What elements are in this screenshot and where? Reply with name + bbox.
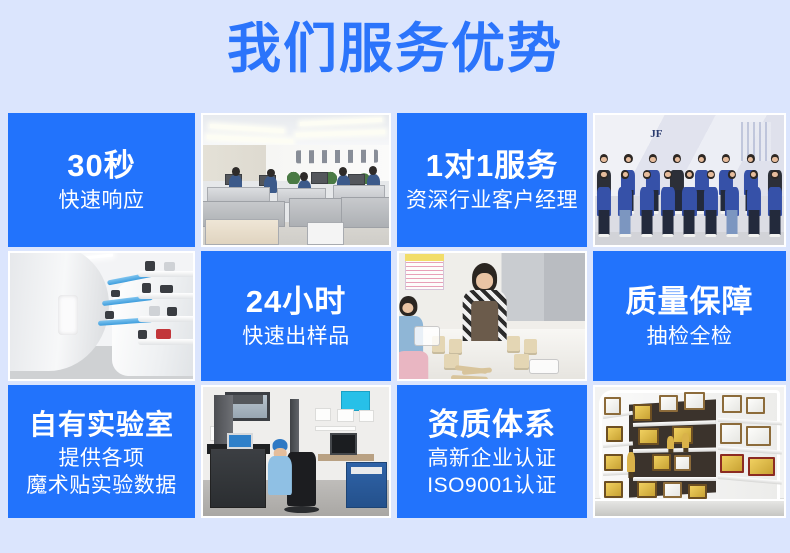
feature-qualification-system-sub2: ISO9001认证 xyxy=(427,472,556,499)
cert-plaque xyxy=(663,482,682,497)
office-monitor xyxy=(348,174,365,186)
lab-document xyxy=(359,410,374,422)
showroom-product xyxy=(160,285,173,294)
feature-response-time-head: 30秒 xyxy=(67,146,135,186)
workshop-bag xyxy=(414,326,440,346)
cert-plaque xyxy=(746,397,765,414)
cert-base xyxy=(595,499,784,516)
cert-plaque xyxy=(604,481,623,498)
workshop-strap xyxy=(451,375,488,379)
showroom-display-pod xyxy=(112,276,193,377)
showroom-shelf xyxy=(138,293,193,299)
cert-trophy-icon xyxy=(667,436,675,449)
cert-plaque xyxy=(684,392,705,410)
office-desk-front xyxy=(307,222,344,245)
workshop-bag xyxy=(529,359,559,374)
team-member xyxy=(747,170,761,238)
team-front-row xyxy=(597,170,782,238)
showroom-product xyxy=(145,261,154,271)
feature-one-on-one-service[interactable]: 1对1服务 资深行业客户经理 xyxy=(397,113,587,247)
showroom-product xyxy=(138,330,147,339)
feature-sample-speed-sub: 快速出样品 xyxy=(242,322,350,351)
cert-plaque xyxy=(688,484,707,499)
cert-plaque xyxy=(604,454,623,471)
workshop-material-roll xyxy=(449,339,462,355)
lab-document xyxy=(315,408,332,421)
feature-response-time-sub: 快速响应 xyxy=(59,186,145,215)
photo-team: JF xyxy=(593,113,786,247)
workshop-notice-header xyxy=(405,254,444,260)
feature-one-on-one-service-sub: 资深行业客户经理 xyxy=(406,186,578,215)
cert-plaque xyxy=(720,423,743,444)
feature-quality-assurance[interactable]: 质量保障 抽检全检 xyxy=(593,251,786,381)
cert-plaque xyxy=(638,428,659,445)
team-member xyxy=(661,170,675,238)
office-cubicle-panel xyxy=(207,187,270,203)
cert-plaque xyxy=(604,397,621,415)
advantages-grid: 30秒 快速响应 xyxy=(8,113,782,518)
team-member xyxy=(704,170,718,238)
feature-qualification-system[interactable]: 资质体系 高新企业认证 ISO9001认证 xyxy=(397,385,587,518)
cert-plaque xyxy=(748,457,774,476)
workshop-material-roll xyxy=(524,339,537,355)
page-title: 我们服务优势 xyxy=(0,14,790,84)
workshop-material-roll xyxy=(514,354,529,370)
photo-office-image xyxy=(203,115,389,245)
photo-laboratory xyxy=(201,385,391,518)
showroom-shelf xyxy=(138,339,193,345)
lab-document xyxy=(315,426,356,431)
feature-sample-speed[interactable]: 24小时 快速出样品 xyxy=(201,251,391,381)
lab-document xyxy=(337,409,354,422)
office-monitor xyxy=(311,172,328,184)
feature-response-time[interactable]: 30秒 快速响应 xyxy=(8,113,195,247)
feature-qualification-system-head: 资质体系 xyxy=(428,405,556,445)
lab-monitor xyxy=(330,433,358,455)
feature-own-laboratory-sub: 提供各项 xyxy=(59,445,145,472)
photo-workshop-image xyxy=(399,253,585,379)
lab-cabinet xyxy=(346,462,387,508)
cert-trophy-icon xyxy=(627,452,635,473)
showroom-product xyxy=(111,290,120,298)
feature-quality-assurance-head: 质量保障 xyxy=(626,282,754,322)
cert-plaque xyxy=(722,395,743,413)
cert-plaque xyxy=(637,481,658,498)
cert-plaque xyxy=(746,426,771,447)
cert-plaque xyxy=(674,455,691,470)
showroom-shelf xyxy=(138,271,193,277)
showroom-shelf xyxy=(138,316,193,322)
photo-showroom-image xyxy=(10,253,193,379)
feature-own-laboratory[interactable]: 自有实验室 提供各项 魔术贴实验数据 xyxy=(8,385,195,518)
photo-office xyxy=(201,113,391,247)
showroom-product xyxy=(149,306,160,316)
office-desk xyxy=(341,197,389,228)
cert-trophy-icon xyxy=(682,433,690,447)
company-logo-icon: JF xyxy=(644,125,669,143)
feature-own-laboratory-head: 自有实验室 xyxy=(29,405,174,445)
photo-certificates-image xyxy=(595,387,784,516)
team-member xyxy=(597,170,611,238)
photo-team-image: JF xyxy=(595,115,784,245)
team-member xyxy=(682,170,696,238)
showroom-product xyxy=(142,283,151,293)
lab-machine xyxy=(210,448,266,509)
cert-plaque xyxy=(633,404,652,421)
cert-plaque xyxy=(606,426,623,443)
team-member xyxy=(768,170,782,238)
showroom-product xyxy=(167,307,176,316)
workshop-worker-main xyxy=(462,263,507,341)
cert-plaque xyxy=(659,395,678,412)
photo-laboratory-image xyxy=(203,387,389,516)
cert-plaque xyxy=(720,454,745,473)
showroom-product xyxy=(156,329,171,339)
showroom-display-niche xyxy=(58,295,78,335)
workshop-material-roll xyxy=(507,336,520,352)
showroom-product xyxy=(105,311,114,319)
feature-one-on-one-service-head: 1对1服务 xyxy=(426,146,558,186)
lab-technician xyxy=(268,439,292,496)
workshop-notice-board xyxy=(405,257,444,290)
feature-quality-assurance-sub: 抽检全检 xyxy=(647,322,733,351)
photo-showroom xyxy=(8,251,195,381)
office-calligraphy xyxy=(296,150,378,164)
team-member xyxy=(640,170,654,238)
showroom-product xyxy=(164,262,175,271)
feature-qualification-system-sub: 高新企业认证 xyxy=(428,445,557,472)
team-member xyxy=(618,170,632,238)
office-desk-front xyxy=(205,219,279,245)
advantages-page: 我们服务优势 30秒 快速响应 xyxy=(0,0,790,553)
cert-plaque xyxy=(652,454,671,471)
photo-certificates xyxy=(593,385,786,518)
feature-own-laboratory-sub2: 魔术贴实验数据 xyxy=(26,472,177,499)
feature-sample-speed-head: 24小时 xyxy=(246,282,346,322)
lab-laptop xyxy=(227,433,253,448)
team-member xyxy=(725,170,739,238)
photo-workshop xyxy=(397,251,587,381)
